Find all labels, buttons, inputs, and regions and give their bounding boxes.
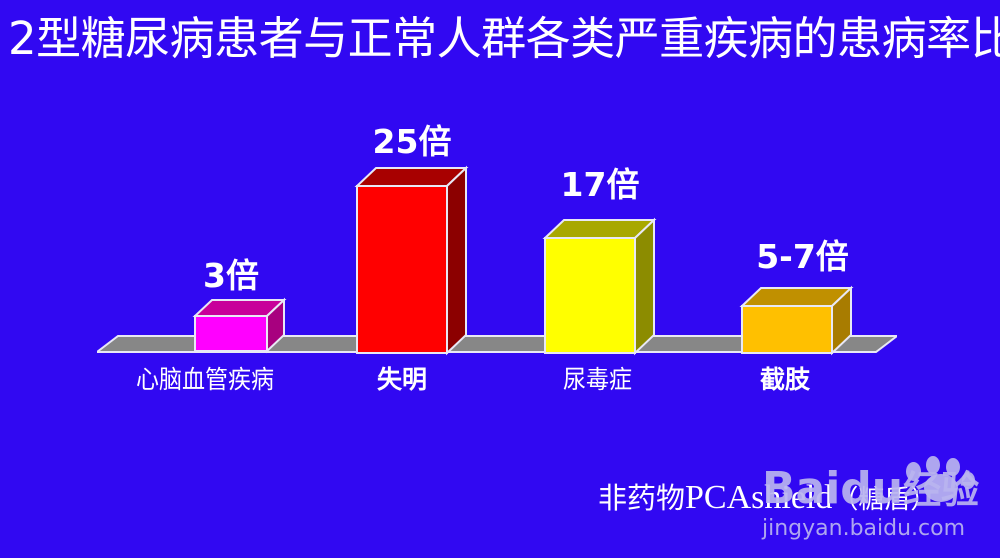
value-label-amputation: 5-7倍	[740, 239, 865, 275]
bar-blindness	[357, 168, 467, 354]
watermark-url-text: jingyan.baidu.com	[762, 517, 965, 541]
value-label-uremia: 17倍	[550, 167, 650, 203]
chart-canvas: 2型糖尿病患者与正常人群各类严重疾病的患病率比较	[0, 0, 1000, 558]
value-label-blindness: 25倍	[362, 124, 462, 160]
bar-uremia	[545, 220, 655, 354]
footer-paren-open: （	[832, 485, 858, 515]
footer-cjk-prefix: 非药物	[598, 481, 685, 515]
value-label-cardiovascular: 3倍	[186, 258, 276, 294]
page-title: 2型糖尿病患者与正常人群各类严重疾病的患病率比较	[8, 14, 998, 64]
footer-paren-close: ）	[910, 485, 936, 515]
bar-cardiovascular	[195, 300, 285, 352]
footer-brand-name: PCAshield	[685, 479, 832, 516]
category-label-blindness: 失明	[357, 365, 447, 395]
category-label-cardiovascular: 心脑血管疾病	[113, 365, 297, 395]
category-label-amputation: 截肢	[740, 365, 830, 395]
category-label-uremia: 尿毒症	[549, 365, 646, 395]
bar-amputation	[742, 288, 852, 354]
footer-brand: 非药物PCAshield（糖盾）	[598, 478, 936, 520]
footer-cjk-suffix: 糖盾	[858, 485, 910, 515]
